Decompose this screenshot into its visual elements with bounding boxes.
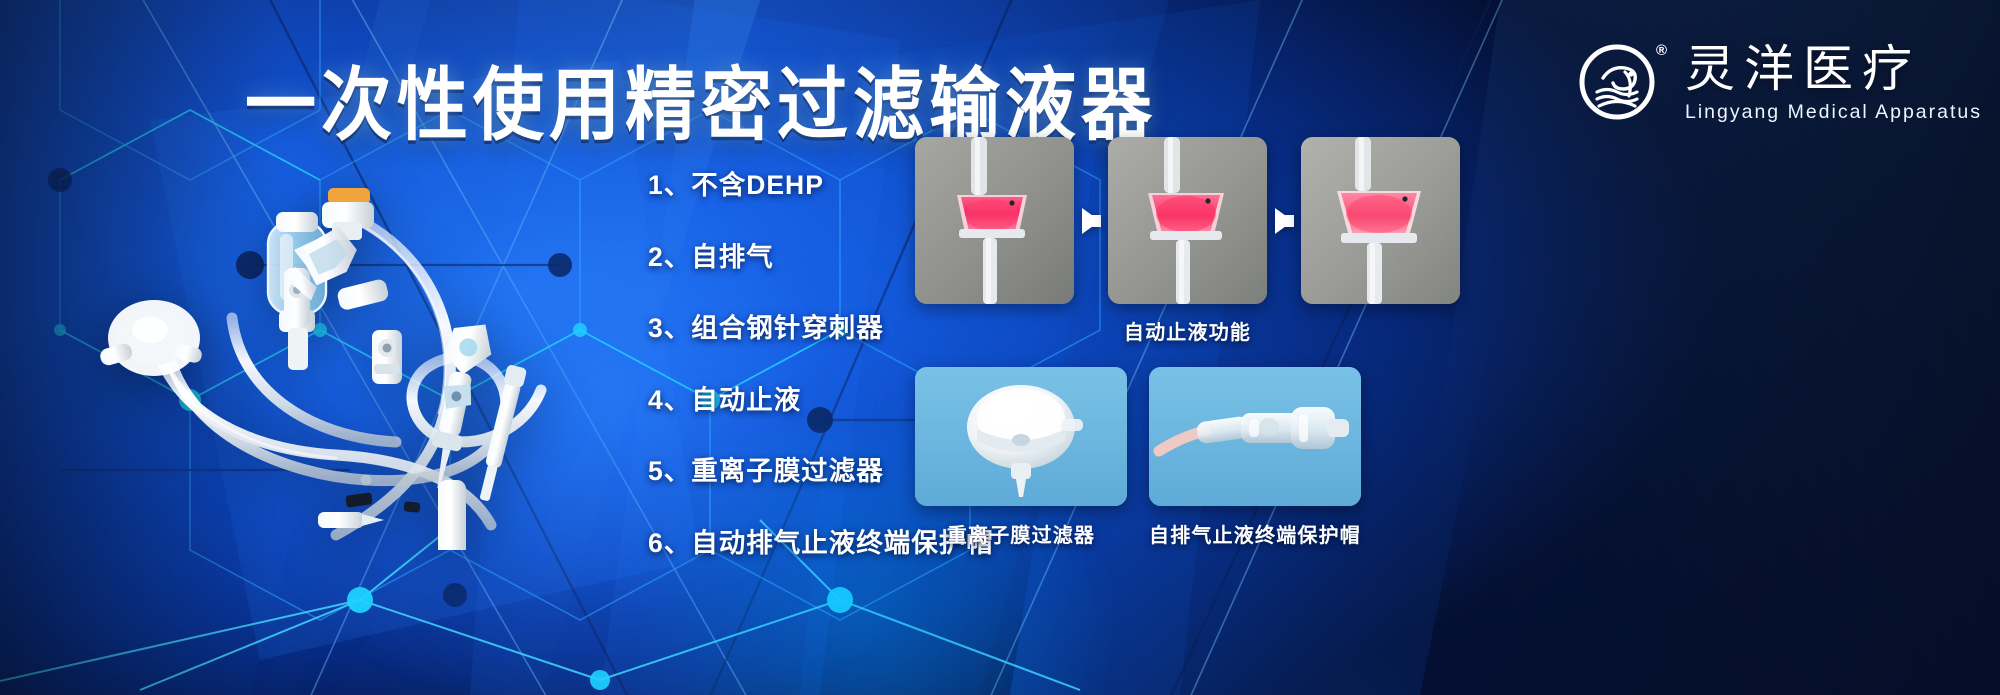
arrow-right-icon-1 bbox=[1074, 137, 1108, 304]
auto-stop-sequence bbox=[915, 137, 1460, 304]
brand-name-cn: 灵洋医疗 bbox=[1685, 43, 1982, 96]
panel-row: 重离子膜过滤器 bbox=[915, 367, 1460, 548]
brand-lockup: ® 灵洋医疗 Lingyang Medical Apparatus bbox=[1573, 36, 1982, 128]
panel-cap-caption: 自排气止液终端保护帽 bbox=[1149, 519, 1361, 548]
panel-filter: 重离子膜过滤器 bbox=[915, 367, 1127, 548]
registered-trademark-icon: ® bbox=[1656, 42, 1667, 59]
panel-filter-caption: 重离子膜过滤器 bbox=[915, 519, 1127, 548]
banner-root: 一次性使用精密过滤输液器 ® 灵洋医疗 Lingyang Medical App… bbox=[0, 0, 2000, 695]
panel-filter-image bbox=[915, 367, 1127, 506]
sequence-frame-1 bbox=[915, 137, 1074, 304]
brand-text-block: 灵洋医疗 Lingyang Medical Apparatus bbox=[1685, 41, 1982, 124]
brand-name-en: Lingyang Medical Apparatus bbox=[1685, 101, 1982, 124]
sequence-caption: 自动止液功能 bbox=[915, 316, 1460, 345]
arrow-right-icon-2 bbox=[1267, 137, 1301, 304]
sequence-frame-2 bbox=[1108, 137, 1267, 304]
sequence-frame-3 bbox=[1301, 137, 1460, 304]
panel-cap-image bbox=[1149, 367, 1361, 506]
panel-cap: 自排气止液终端保护帽 bbox=[1149, 367, 1361, 548]
showcase-grid: 自动止液功能 bbox=[915, 137, 1460, 548]
product-photo bbox=[36, 150, 676, 550]
lingyang-circular-logo-icon: ® bbox=[1573, 36, 1665, 128]
